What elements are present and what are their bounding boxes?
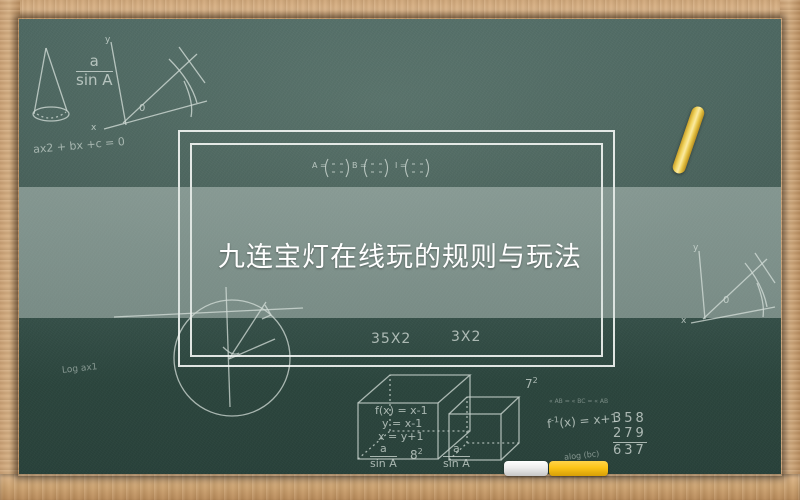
chalkboard-surface: a sin A y x 0 ax2 + bx +c = 0 y x 0 35X2… xyxy=(19,19,781,475)
cube-diagram-left xyxy=(449,397,519,460)
frame-top-rail xyxy=(0,0,800,20)
yellow-chalk-stick-tray xyxy=(549,461,608,476)
chalkboard-banner: a sin A y x 0 ax2 + bx +c = 0 y x 0 35X2… xyxy=(0,0,800,500)
chalk-tray-ledge xyxy=(0,474,800,500)
white-chalk-stick-tray xyxy=(504,461,548,476)
frame-right-rail xyxy=(780,0,800,500)
cube-diagram-right xyxy=(358,375,470,459)
page-title: 九连宝灯在线玩的规则与玩法 xyxy=(19,235,781,274)
angle-axes-diagram-left xyxy=(104,42,207,129)
cone-diagram xyxy=(33,48,69,121)
frame-left-rail xyxy=(0,0,20,500)
